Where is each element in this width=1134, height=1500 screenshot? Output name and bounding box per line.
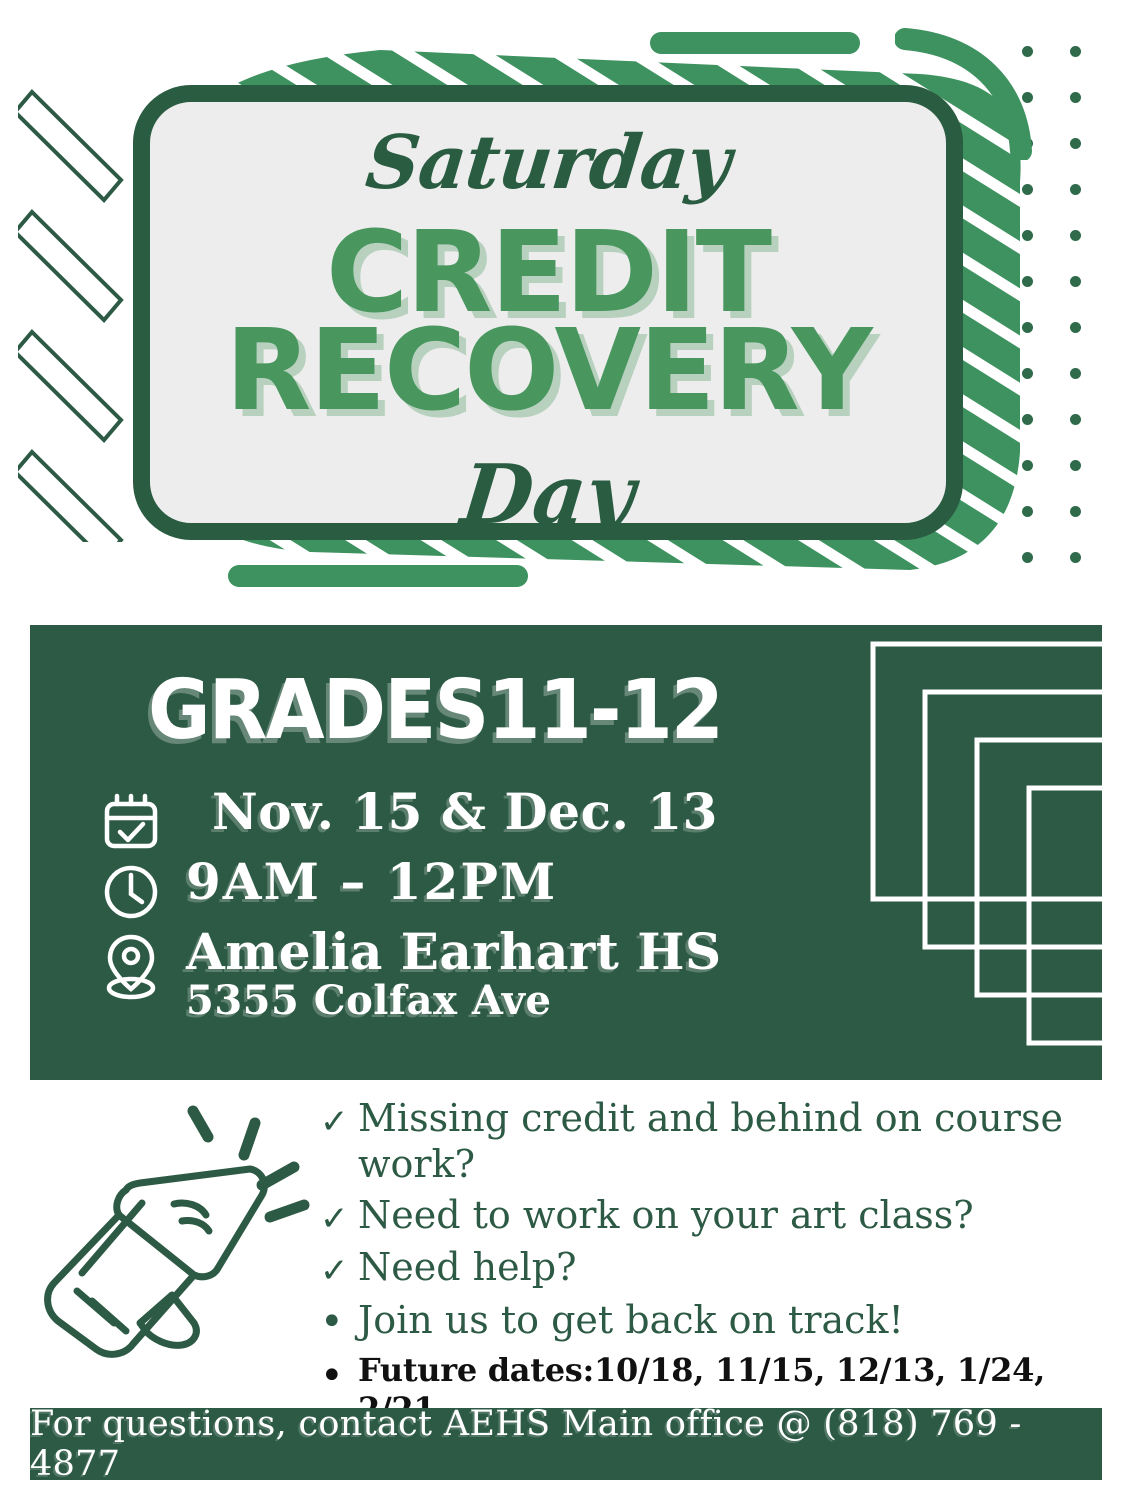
list-item: ✓ Need to work on your art class? bbox=[320, 1192, 1110, 1241]
grades-heading: GRADES11-12 bbox=[148, 663, 722, 758]
event-date: Nov. 15 & Dec. 13 bbox=[170, 785, 718, 838]
event-date-row: Nov. 15 & Dec. 13 bbox=[92, 785, 722, 853]
bullet-dot-icon: • bbox=[320, 1297, 358, 1347]
check-icon: ✓ bbox=[320, 1192, 358, 1241]
curved-arc-decoration bbox=[895, 25, 1040, 160]
list-item: ✓ Missing credit and behind on course wo… bbox=[320, 1095, 1110, 1188]
grades-label: GRADES bbox=[148, 663, 488, 758]
footer-bar: For questions, contact AEHS Main office … bbox=[30, 1408, 1102, 1480]
event-time: 9AM – 12PM bbox=[170, 855, 557, 908]
diagonal-stripes-decoration bbox=[18, 72, 158, 542]
list-item: ✓ Need help? bbox=[320, 1244, 1110, 1293]
event-location-row: Amelia Earhart HS 5355 Colfax Ave bbox=[92, 925, 722, 1022]
pill-bar-decoration-top bbox=[650, 32, 860, 54]
list-item-text: Missing credit and behind on course work… bbox=[358, 1095, 1110, 1188]
clock-icon bbox=[92, 855, 170, 923]
calendar-check-icon bbox=[92, 785, 170, 853]
benefits-list: ✓ Missing credit and behind on course wo… bbox=[320, 1095, 1110, 1433]
list-item: • Join us to get back on track! bbox=[320, 1297, 1110, 1347]
event-address: 5355 Colfax Ave bbox=[186, 980, 722, 1022]
hero-script-top: Saturday bbox=[145, 120, 950, 206]
list-item-text: Join us to get back on track! bbox=[358, 1297, 904, 1343]
pill-bar-decoration-bottom bbox=[228, 565, 528, 587]
bullet-dot-icon: • bbox=[320, 1351, 358, 1401]
list-item-text: Need help? bbox=[358, 1244, 576, 1290]
map-pin-icon bbox=[92, 925, 170, 1003]
hero-line-recovery: RECOVERY bbox=[150, 320, 946, 423]
hero-card: Saturday CREDIT RECOVERY Day bbox=[133, 85, 963, 540]
list-item-text: Need to work on your art class? bbox=[358, 1192, 974, 1238]
megaphone-icon bbox=[22, 1095, 312, 1395]
event-info-band: GRADES11-12 Nov. 15 & Dec. 13 bbox=[30, 625, 1102, 1080]
check-icon: ✓ bbox=[320, 1095, 358, 1144]
event-venue: Amelia Earhart HS bbox=[186, 922, 722, 981]
event-details-list: Nov. 15 & Dec. 13 9AM – 12PM bbox=[92, 785, 722, 1024]
check-icon: ✓ bbox=[320, 1244, 358, 1293]
footer-contact-text: For questions, contact AEHS Main office … bbox=[30, 1404, 1102, 1484]
flyer-page: Saturday CREDIT RECOVERY Day bbox=[0, 0, 1134, 1500]
event-venue-block: Amelia Earhart HS 5355 Colfax Ave bbox=[170, 925, 722, 1022]
nested-squares-decoration bbox=[868, 639, 1102, 1079]
event-time-row: 9AM – 12PM bbox=[92, 855, 722, 923]
hero-script-bottom: Day bbox=[145, 447, 951, 540]
grades-value: 11-12 bbox=[488, 663, 723, 758]
